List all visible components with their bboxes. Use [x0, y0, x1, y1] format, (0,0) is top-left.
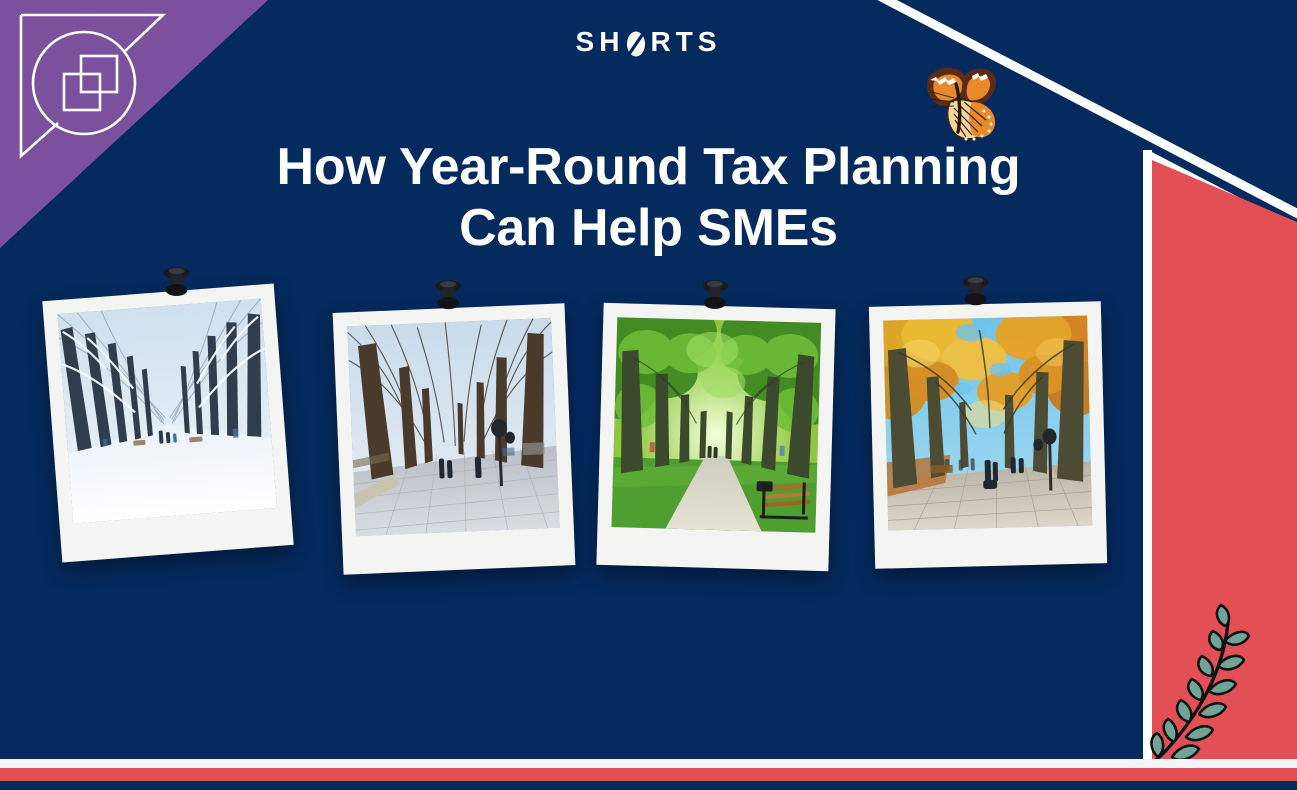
footer-stripe-navy	[0, 781, 1297, 790]
wordmark-text-after: RTS	[650, 28, 721, 56]
photo-image-autumn	[883, 316, 1092, 531]
polaroid-photo-winter[interactable]	[42, 283, 293, 562]
leafy-branch-icon	[1148, 600, 1258, 768]
page-title-line-2: Can Help SMEs	[150, 198, 1147, 259]
banner-canvas: SH RTS How Year-Round Tax Planning Can H…	[0, 0, 1297, 790]
photo-image-spring	[347, 318, 560, 536]
brand-wordmark[interactable]: SH RTS	[0, 28, 1297, 56]
footer-stripe-white	[0, 759, 1297, 768]
footer-stripe-coral	[0, 768, 1297, 781]
polaroid-photo-autumn[interactable]	[869, 301, 1107, 569]
monarch-butterfly-icon	[916, 62, 1008, 148]
photo-image-winter	[57, 299, 277, 524]
pushpin-icon	[698, 278, 732, 318]
polaroid-photo-summer[interactable]	[596, 303, 835, 571]
shorts-o-mark-icon	[626, 30, 646, 58]
wordmark-text-before: SH	[576, 28, 625, 56]
pushpin-icon	[958, 274, 992, 314]
pushpin-icon	[159, 265, 193, 305]
page-title: How Year-Round Tax Planning Can Help SME…	[0, 137, 1297, 259]
photo-image-summer	[611, 317, 821, 533]
pushpin-icon	[431, 278, 465, 318]
polaroid-photo-spring[interactable]	[333, 303, 576, 574]
